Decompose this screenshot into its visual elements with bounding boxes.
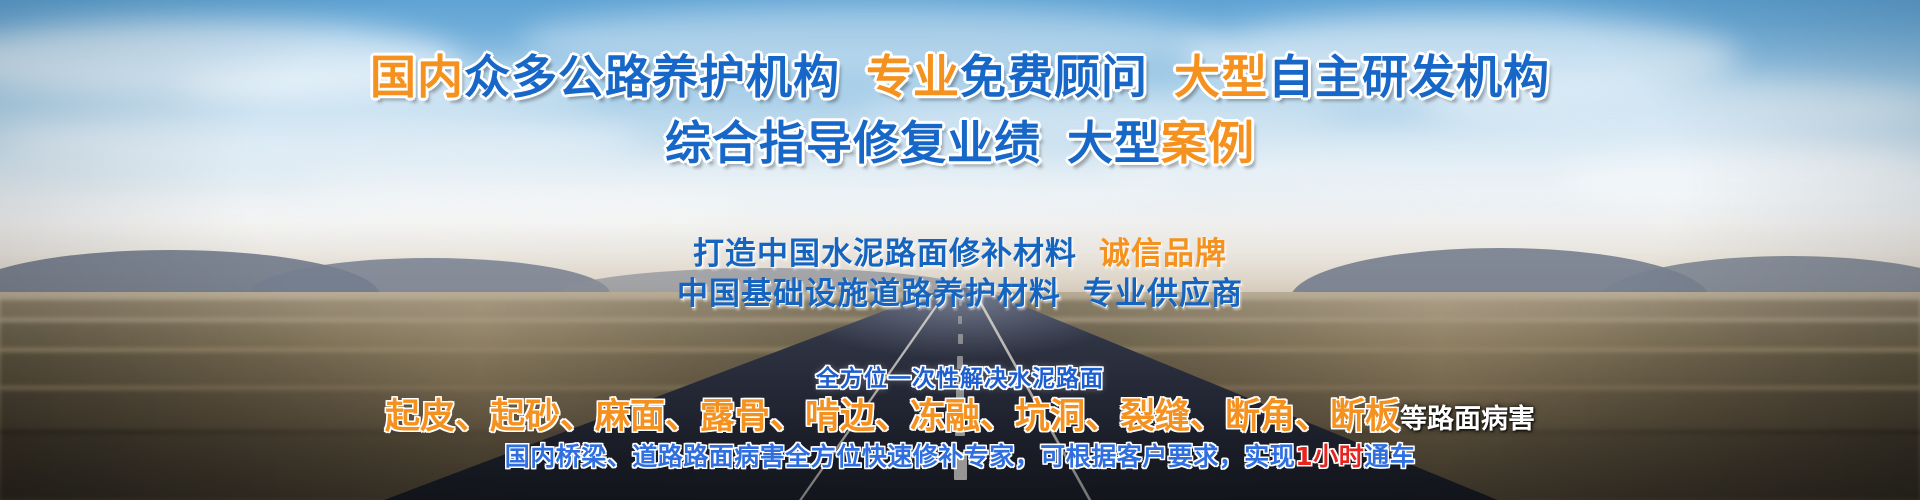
headline-l2-seg-2: 大型 — [1067, 116, 1161, 170]
road-center-dash — [958, 316, 962, 324]
headline-l2-seg-1: 综合指导修复业绩 — [665, 116, 1041, 170]
subheadline-row1-accent: 诚信品牌 — [1099, 236, 1227, 272]
headline-l1-seg-6: 自主研发机构 — [1268, 50, 1550, 104]
bottom-closing-highlight: 1小时 — [1295, 442, 1364, 471]
bottom-closing-line: 国内桥梁、道路路面病害全方位快速修补专家，可根据客户要求，实现1小时通车 — [0, 437, 1920, 473]
headline-line-2: 综合指导修复业绩大型案例 — [0, 118, 1920, 168]
bottom-defects-list: 起皮、起砂、麻面、露骨、啃边、冻融、坑洞、裂缝、断角、断板 — [385, 397, 1400, 437]
bottom-defects-line: 起皮、起砂、麻面、露骨、啃边、冻融、坑洞、裂缝、断角、断板等路面病害 — [0, 388, 1920, 439]
bottom-defects-suffix: 等路面病害 — [1400, 404, 1535, 435]
road-center-dash — [958, 334, 963, 344]
subheadline-row1-main: 打造中国水泥路面修补材料 — [693, 236, 1077, 272]
subheadline-row-1: 打造中国水泥路面修补材料诚信品牌 — [0, 235, 1920, 273]
bottom-closing-pre: 国内桥梁、道路路面病害全方位快速修补专家，可根据客户要求，实现 — [505, 442, 1296, 471]
subheadline-row2-accent: 专业供应商 — [1083, 276, 1243, 312]
headline-l1-seg-3: 专业 — [866, 50, 960, 104]
promotional-banner: 国内众多公路养护机构专业免费顾问大型自主研发机构 综合指导修复业绩大型案例 打造… — [0, 0, 1920, 500]
subheadline-row-2: 中国基础设施道路养护材料专业供应商 — [0, 275, 1920, 313]
headline-l2-seg-3: 案例 — [1161, 116, 1255, 170]
headline-line-1: 国内众多公路养护机构专业免费顾问大型自主研发机构 — [0, 52, 1920, 102]
headline-l1-seg-5: 大型 — [1174, 50, 1268, 104]
headline-l1-seg-4: 免费顾问 — [960, 50, 1148, 104]
headline-l1-seg-2: 众多公路养护机构 — [464, 50, 840, 104]
subheadline-row2-main: 中国基础设施道路养护材料 — [677, 276, 1061, 312]
headline-l1-seg-1: 国内 — [370, 50, 464, 104]
bottom-closing-post: 通车 — [1364, 442, 1415, 471]
